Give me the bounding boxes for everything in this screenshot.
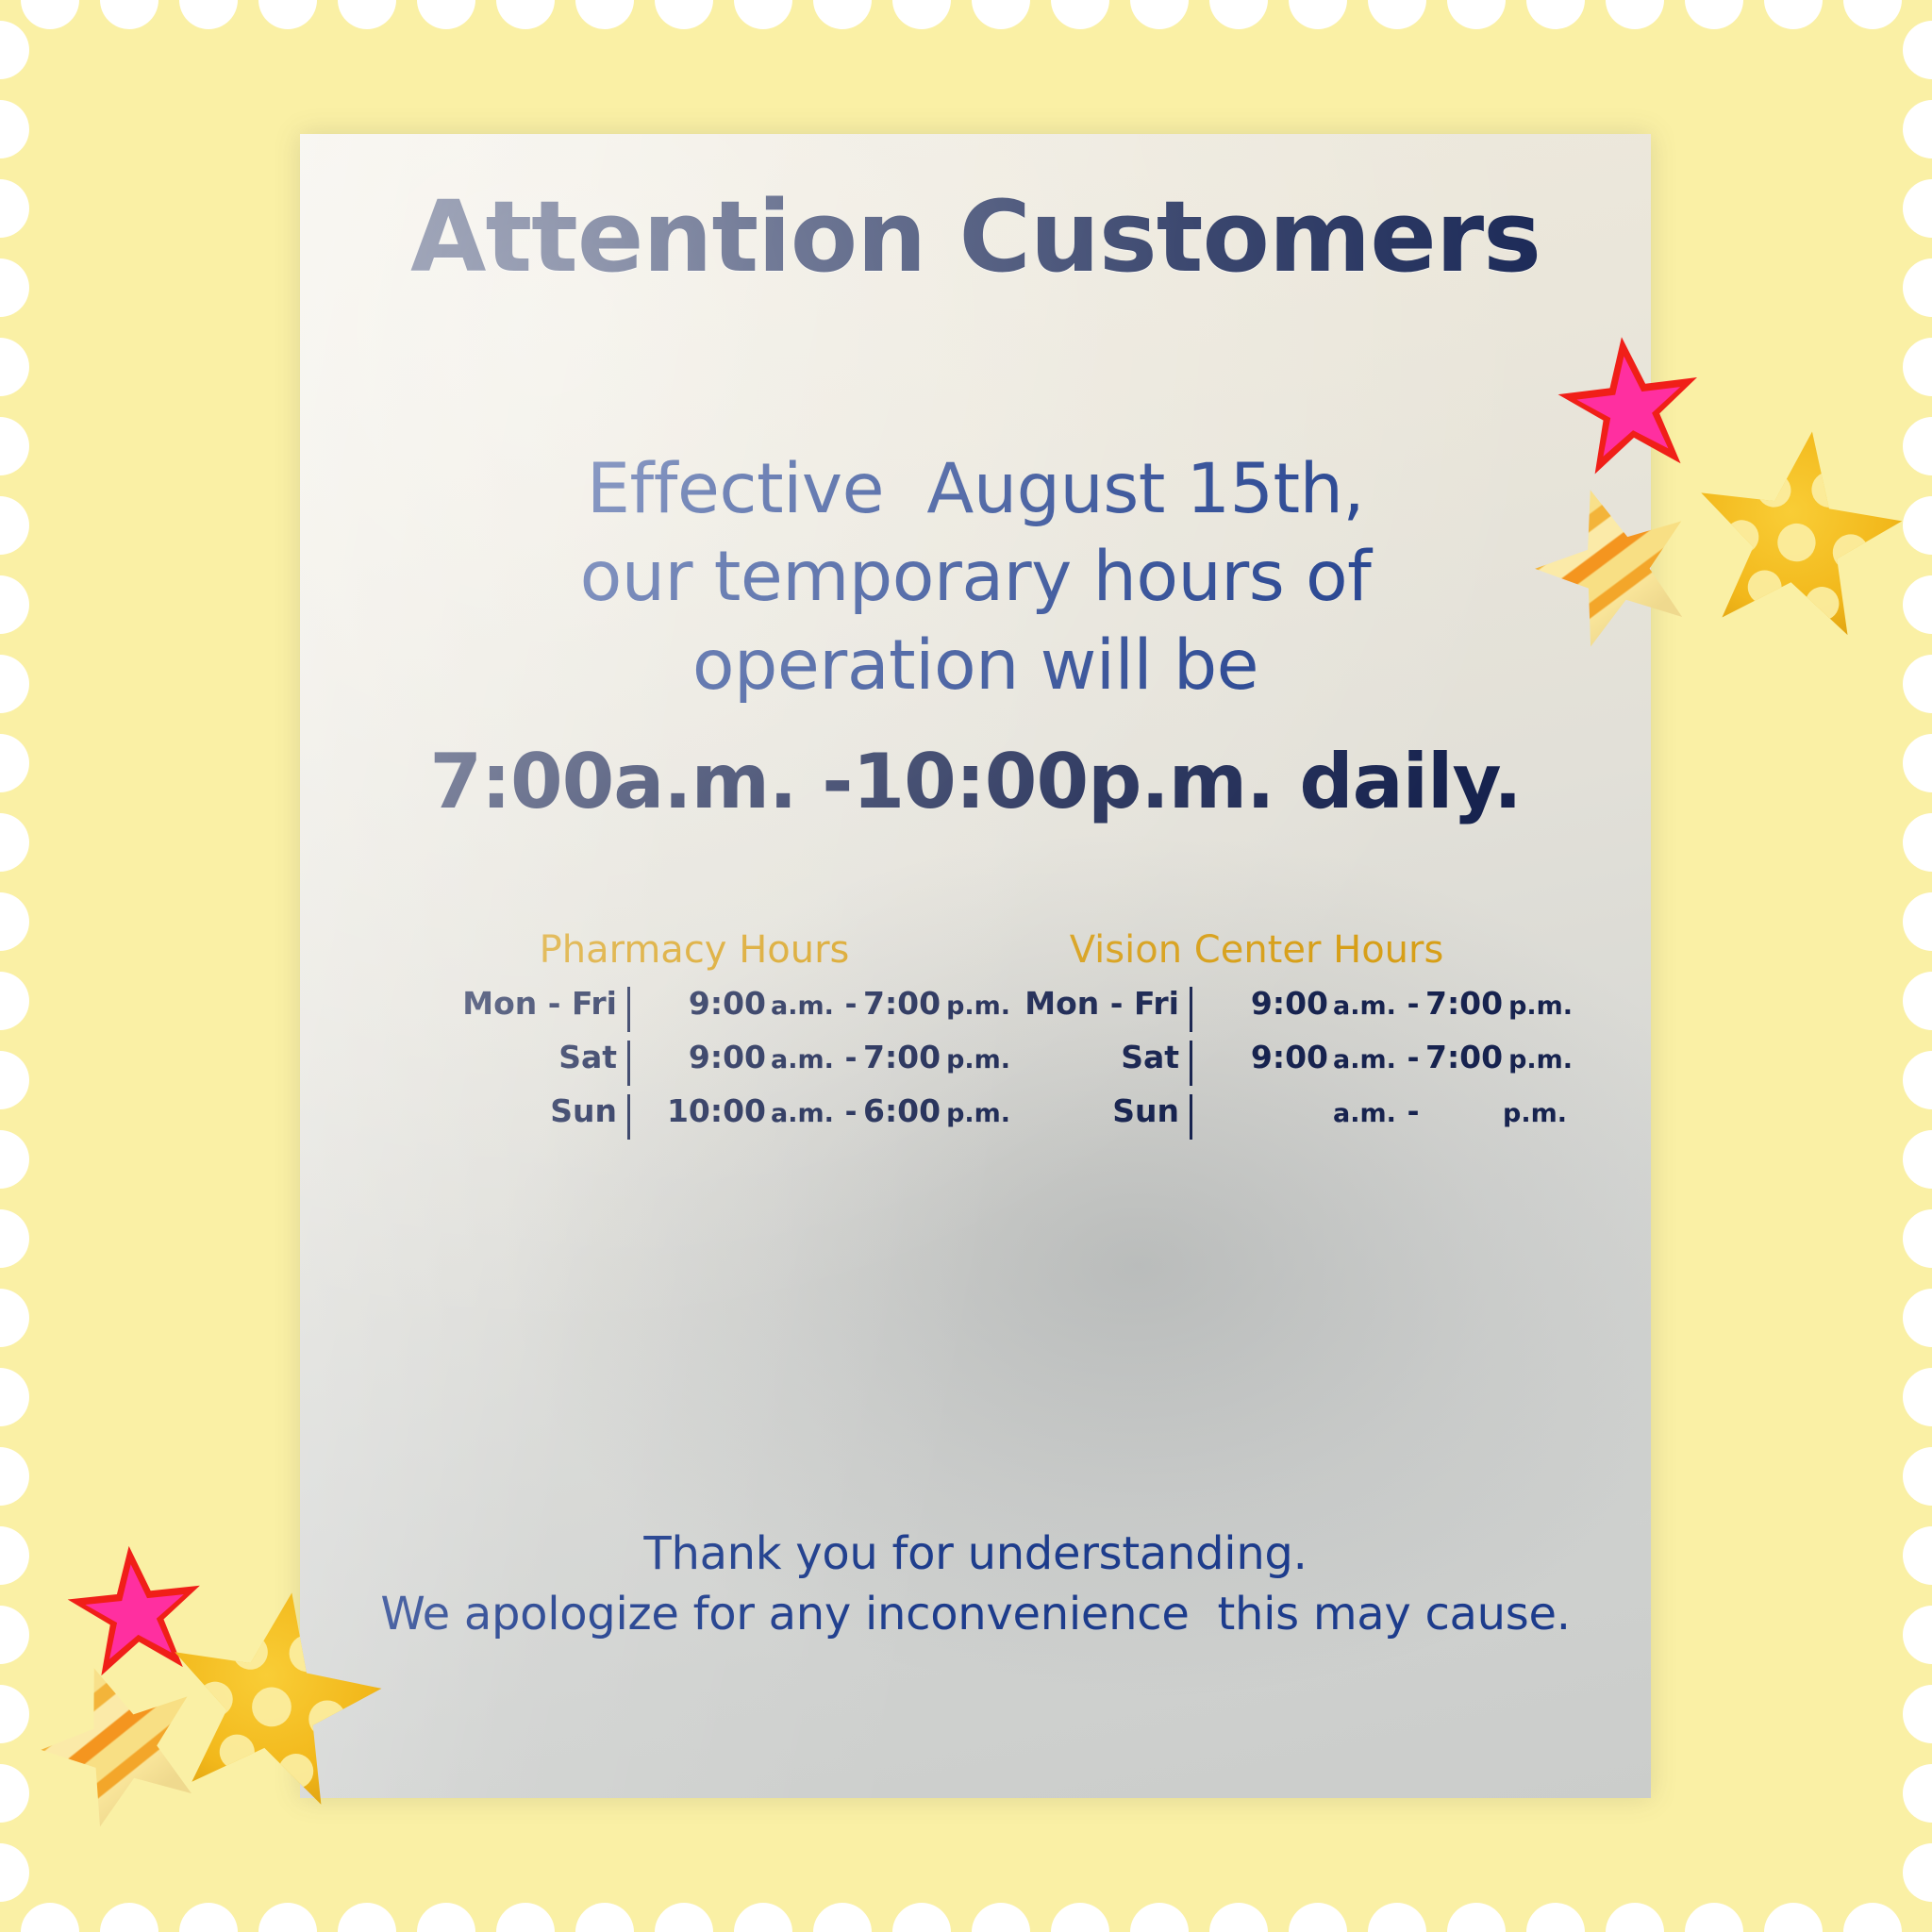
row-divider (1190, 1094, 1192, 1140)
open-meridiem: a.m. (766, 991, 839, 1021)
open-meridiem: a.m. (1328, 1045, 1401, 1074)
hours-tables-container: Pharmacy Hours Mon - Fri 9:00 a.m. - 7:0… (300, 928, 1651, 1140)
pharmacy-hours-rows: Mon - Fri 9:00 a.m. - 7:00 p.m. Sat 9:00 (458, 985, 930, 1140)
closing-note-line-2: We apologize for any inconvenience this … (328, 1585, 1623, 1645)
pink-star-sticker (1546, 324, 1714, 490)
table-row: Sun a.m. - p.m. (1021, 1092, 1492, 1140)
scallop-edge-left (0, 0, 29, 1932)
yellow-polkadot-star-sticker (1675, 412, 1922, 652)
table-row: Sun 10:00 a.m. - 6:00 p.m. (458, 1092, 930, 1140)
closing-note: Thank you for understanding. We apologiz… (328, 1524, 1623, 1645)
open-time: 9:00 (1192, 985, 1328, 1022)
time-range-dash: - (839, 1041, 863, 1075)
vision-center-hours-rows: Mon - Fri 9:00 a.m. - 7:00 p.m. Sat 9:00 (1021, 985, 1492, 1140)
pharmacy-hours-title: Pharmacy Hours (458, 928, 930, 972)
time-range-dash: - (1401, 1095, 1425, 1129)
vision-center-hours-block: Vision Center Hours Mon - Fri 9:00 a.m. … (1021, 928, 1492, 1140)
open-time: 9:00 (630, 1039, 766, 1075)
table-row: Mon - Fri 9:00 a.m. - 7:00 p.m. (1021, 985, 1492, 1032)
open-time: 9:00 (1192, 1039, 1328, 1075)
day-label: Sat (1021, 1039, 1190, 1075)
photo-frame: Attention Customers Effective August 15t… (0, 0, 1932, 1932)
close-time: 7:00 (863, 1039, 941, 1075)
open-meridiem: a.m. (1328, 1099, 1401, 1128)
close-meridiem: p.m. (941, 1099, 1016, 1128)
close-meridiem: p.m. (1503, 1045, 1578, 1074)
close-time: 7:00 (1425, 1039, 1503, 1075)
open-time: 9:00 (630, 985, 766, 1022)
close-time: 6:00 (863, 1092, 941, 1129)
effective-notice-line-2: our temporary hours of (338, 533, 1613, 621)
effective-notice-line-3: operation will be (338, 622, 1613, 709)
open-meridiem: a.m. (766, 1099, 839, 1128)
vision-center-hours-title: Vision Center Hours (1021, 928, 1492, 972)
printed-sign-paper: Attention Customers Effective August 15t… (300, 134, 1651, 1798)
time-range-dash: - (839, 988, 863, 1022)
yellow-polkadot-star-sticker (143, 1569, 405, 1824)
scallop-edge-right (1903, 0, 1932, 1932)
day-label: Sun (458, 1092, 627, 1129)
day-label: Sun (1021, 1092, 1190, 1129)
scallop-edge-bottom (0, 1903, 1932, 1932)
day-label: Sat (458, 1039, 627, 1075)
table-row: Mon - Fri 9:00 a.m. - 7:00 p.m. (458, 985, 930, 1032)
effective-notice: Effective August 15th, our temporary hou… (338, 445, 1613, 709)
closing-note-line-1: Thank you for understanding. (328, 1524, 1623, 1585)
table-row: Sat 9:00 a.m. - 7:00 p.m. (458, 1039, 930, 1086)
main-hours-statement: 7:00a.m. -10:00p.m. daily. (300, 738, 1651, 825)
close-meridiem: p.m. (1503, 991, 1578, 1021)
day-label: Mon - Fri (1021, 985, 1190, 1022)
close-meridiem: p.m. (941, 991, 1016, 1021)
pharmacy-hours-block: Pharmacy Hours Mon - Fri 9:00 a.m. - 7:0… (458, 928, 930, 1140)
sign-content: Attention Customers Effective August 15t… (300, 134, 1651, 1798)
time-range-dash: - (1401, 1041, 1425, 1075)
time-range-dash: - (839, 1095, 863, 1129)
close-meridiem: p.m. (1497, 1099, 1573, 1128)
table-row: Sat 9:00 a.m. - 7:00 p.m. (1021, 1039, 1492, 1086)
close-time: 7:00 (863, 985, 941, 1022)
open-meridiem: a.m. (1328, 991, 1401, 1021)
close-meridiem: p.m. (941, 1045, 1016, 1074)
time-range-dash: - (1401, 988, 1425, 1022)
open-time: 10:00 (630, 1092, 766, 1129)
effective-notice-line-1: Effective August 15th, (338, 445, 1613, 533)
page-title: Attention Customers (300, 179, 1651, 294)
day-label: Mon - Fri (458, 985, 627, 1022)
open-meridiem: a.m. (766, 1045, 839, 1074)
close-time: 7:00 (1425, 985, 1503, 1022)
scallop-edge-top (0, 0, 1932, 29)
